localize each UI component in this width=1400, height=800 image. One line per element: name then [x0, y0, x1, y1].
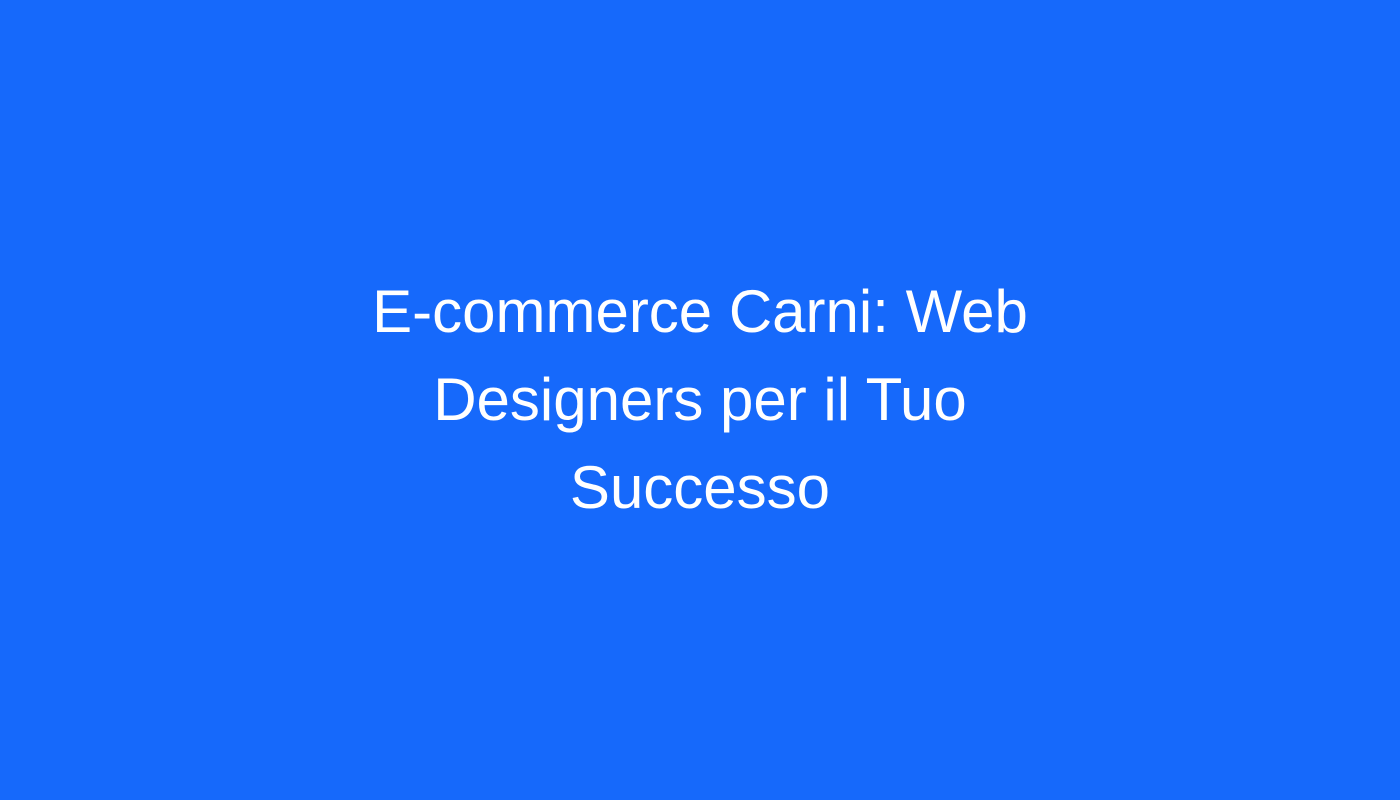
- page-title: E-commerce Carni: Web Designers per il T…: [310, 268, 1090, 532]
- hero-content-wrapper: E-commerce Carni: Web Designers per il T…: [80, 268, 1320, 532]
- hero-banner: E-commerce Carni: Web Designers per il T…: [0, 0, 1400, 800]
